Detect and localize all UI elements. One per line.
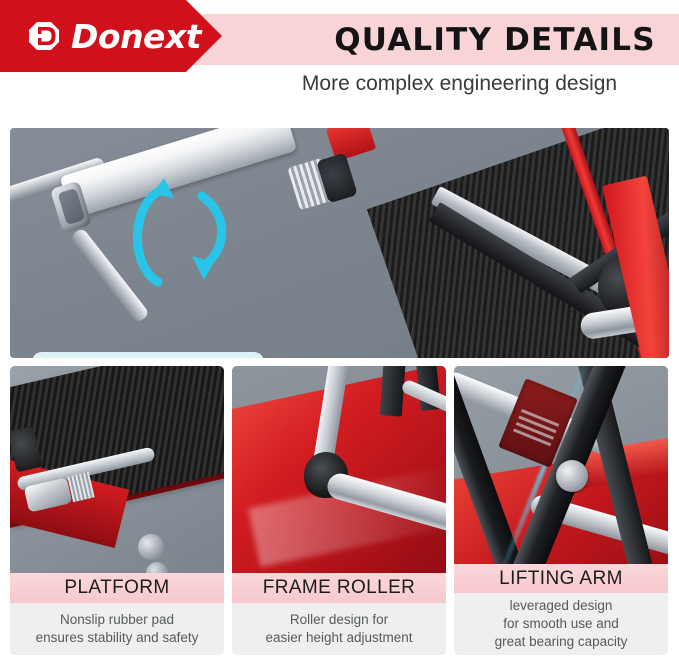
donext-hexagon-d-icon (28, 19, 62, 53)
feature-title: LIFTING ARM (499, 568, 623, 590)
rotation-arrow-icon (118, 172, 248, 312)
brand-name: Donext (71, 20, 201, 53)
feature-title: FRAME ROLLER (263, 577, 416, 599)
feature-title-band: PLATFORM (10, 573, 224, 603)
feature-title: PLATFORM (64, 577, 169, 599)
feature-card-lifting-arm: LIFTING ARM leveraged designfor smooth u… (454, 366, 668, 655)
feature-card-platform: PLATFORM Nonslip rubber padensures stabi… (10, 366, 224, 655)
product-detail-page: Donext QUALITY DETAILS More complex engi… (0, 0, 679, 663)
feature-description: Roller design foreasier height adjustmen… (265, 611, 412, 647)
feature-card-row: PLATFORM Nonslip rubber padensures stabi… (10, 366, 669, 655)
brand-logo: Donext (0, 0, 222, 72)
pivot-bolt (556, 460, 588, 492)
feature-caption: leveraged designfor smooth use andgreat … (454, 593, 668, 655)
feature-caption: Nonslip rubber padensures stability and … (10, 603, 224, 655)
feature-title-band: LIFTING ARM (454, 564, 668, 593)
hero-photo-rotating-handle: ROTATING HANDLE Rotating handle to easil… (10, 128, 669, 358)
platform-photo (10, 366, 224, 573)
feature-description: leveraged designfor smooth use andgreat … (495, 597, 628, 651)
feature-title-band: FRAME ROLLER (232, 573, 446, 603)
feature-description: Nonslip rubber padensures stability and … (36, 611, 199, 647)
page-subtitle: More complex engineering design (240, 72, 679, 96)
bolt-head-upper (138, 534, 164, 560)
lifting-arm-photo (454, 366, 668, 564)
rotating-handle-callout: ROTATING HANDLE Rotating handle to easil… (32, 352, 264, 358)
feature-caption: Roller design foreasier height adjustmen… (232, 603, 446, 655)
page-title: QUALITY DETAILS (330, 18, 660, 62)
frame-roller-photo (232, 366, 446, 573)
page-header: Donext QUALITY DETAILS More complex engi… (0, 0, 679, 118)
feature-card-frame-roller: FRAME ROLLER Roller design foreasier hei… (232, 366, 446, 655)
